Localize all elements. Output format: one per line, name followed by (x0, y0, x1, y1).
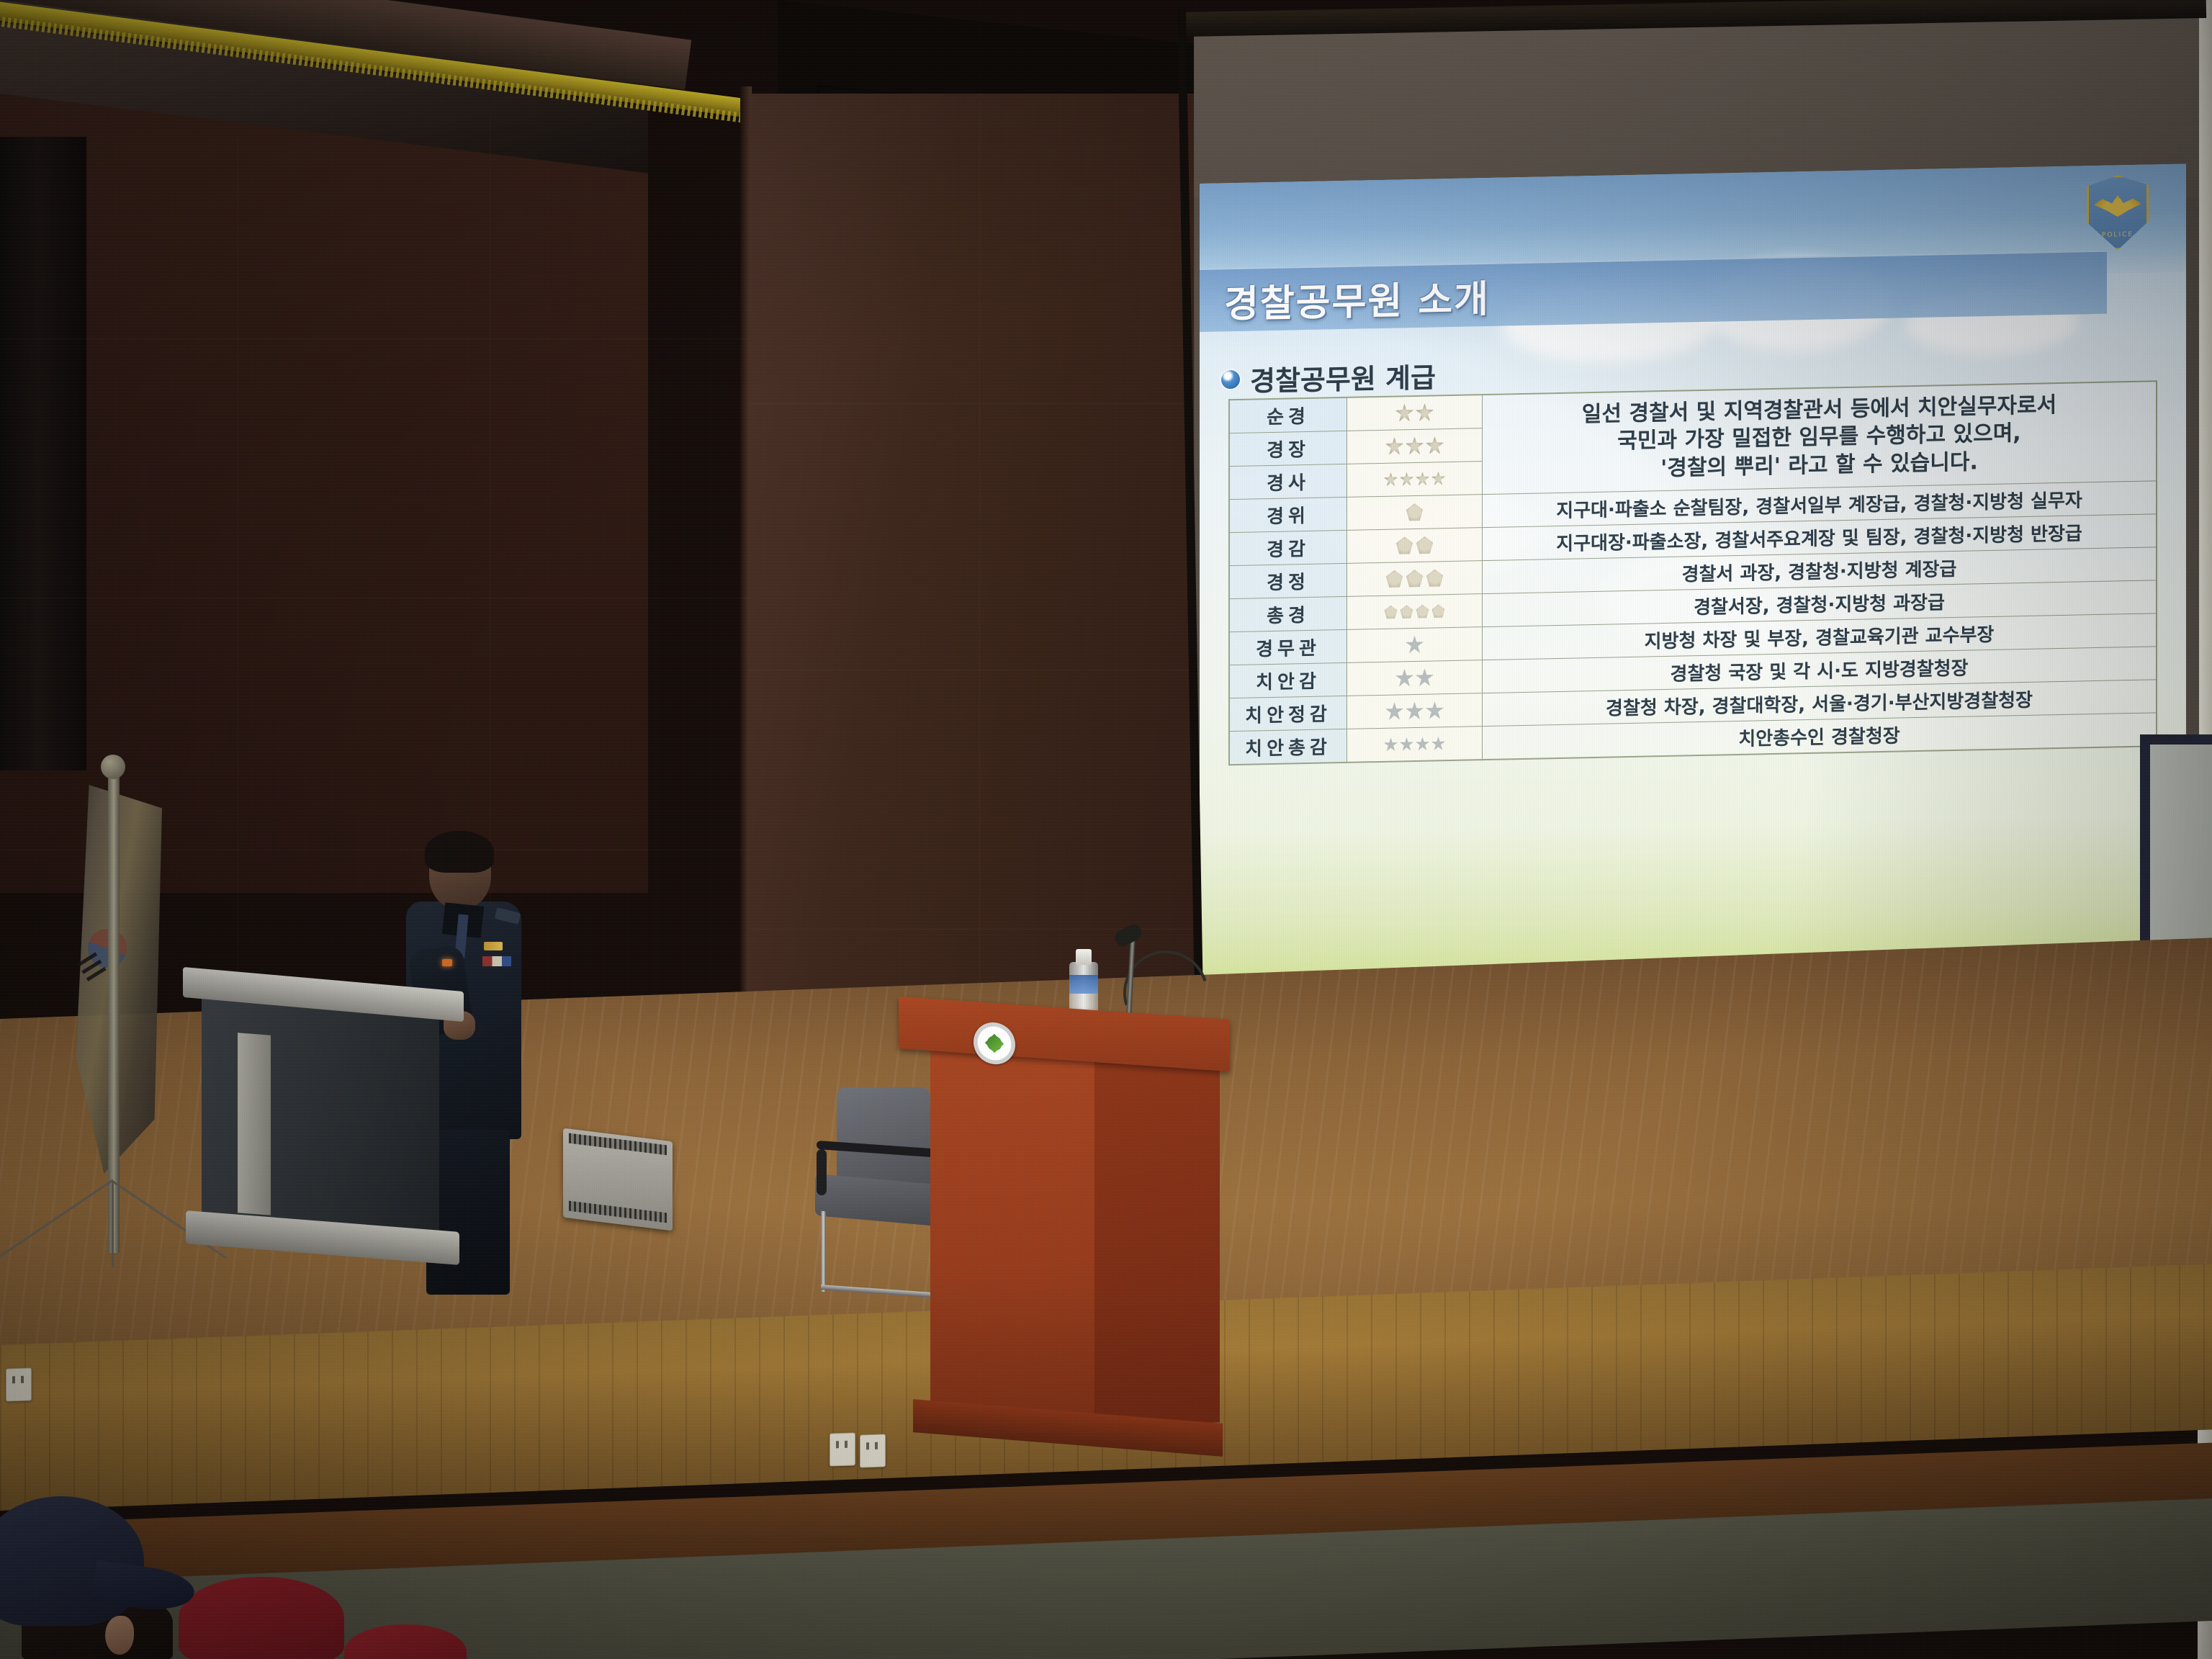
police-emblem-icon: POLICE (2087, 175, 2149, 251)
rank-insignia-icon (1431, 604, 1446, 619)
auditorium-photo: 경찰공무원 소개 POLICE 경찰공무원 계급 순경일선 경찰서 및 지역경찰… (0, 0, 2212, 1659)
audience-ear (105, 1616, 134, 1655)
rank-name-cell: 경무관 (1229, 629, 1347, 665)
rank-insignia-cell (1347, 495, 1483, 531)
rank-insignia-icon (1400, 472, 1414, 487)
rank-insignia-icon (1416, 536, 1434, 555)
presenter-hair (425, 831, 494, 873)
rank-insignia-cell (1347, 627, 1483, 663)
insignia-group (1352, 502, 1478, 523)
presenter-badge-icon (484, 942, 503, 950)
wooden-podium (906, 1008, 1223, 1498)
wall-seam (979, 101, 980, 1051)
flag-pole (108, 763, 120, 1253)
rank-name-cell: 치안감 (1229, 662, 1347, 698)
rank-insignia-icon (1406, 503, 1424, 522)
rank-name-cell: 치안정감 (1229, 696, 1347, 731)
presenter-ribbon-bar (482, 956, 511, 966)
rank-name-cell: 경장 (1229, 431, 1347, 466)
lectern-indicator-light (442, 959, 452, 966)
rank-insignia-icon (1395, 536, 1414, 556)
rank-insignia-icon (1416, 604, 1430, 619)
heater-vent (569, 1201, 667, 1223)
rank-insignia-cell (1347, 594, 1483, 630)
wall-outlet[interactable] (829, 1432, 855, 1466)
rank-insignia-cell (1347, 660, 1483, 696)
emblem-wordmark: POLICE (2087, 231, 2149, 240)
rank-insignia-icon (1384, 737, 1398, 752)
rank-insignia-icon (1385, 570, 1404, 589)
rank-insignia-cell (1347, 561, 1483, 597)
grey-lectern (196, 979, 448, 1282)
rank-insignia-icon (1416, 668, 1434, 688)
flag-finial (101, 755, 125, 779)
rank-insignia-icon (1385, 437, 1404, 457)
bottle-label (1069, 975, 1098, 994)
rank-description-cell: 일선 경찰서 및 지역경찰관서 등에서 치안실무자로서국민과 가장 밀접한 임무… (1483, 381, 2157, 494)
rank-insignia-icon (1385, 702, 1404, 721)
rank-insignia-cell (1347, 428, 1483, 464)
insignia-group (1352, 403, 1478, 424)
rank-insignia-cell (1347, 727, 1483, 763)
rank-insignia-cell (1347, 693, 1483, 729)
insignia-group (1352, 471, 1478, 488)
rank-name-cell: 총경 (1229, 596, 1347, 631)
taeguk-symbol-icon (88, 929, 127, 968)
wall-seam (238, 137, 238, 1030)
insignia-group (1352, 436, 1478, 457)
rank-insignia-icon (1426, 436, 1444, 456)
rank-insignia-cell (1347, 528, 1483, 564)
chair-leg (821, 1211, 826, 1292)
rank-insignia-cell (1347, 462, 1483, 498)
audience-red-cap (179, 1577, 344, 1659)
bullet-dot-icon (1221, 369, 1240, 389)
slide-title: 경찰공무원 소개 (1224, 269, 1490, 328)
rank-insignia-icon (1416, 737, 1430, 751)
rank-name-cell: 경사 (1229, 464, 1347, 499)
rank-insignia-icon (1406, 701, 1424, 721)
podium-emblem-inner (984, 1032, 1005, 1055)
rank-insignia-icon (1406, 569, 1424, 588)
water-bottle[interactable] (1069, 949, 1098, 1015)
rank-name-cell: 순경 (1229, 397, 1347, 433)
rank-insignia-icon (1406, 436, 1424, 456)
stage-curtain (0, 137, 86, 770)
insignia-group (1352, 535, 1478, 557)
audience-navy-cap (0, 1496, 144, 1626)
slide-section-heading: 경찰공무원 계급 (1221, 355, 1436, 399)
insignia-group (1352, 736, 1478, 753)
rank-insignia-icon (1426, 569, 1444, 588)
wall-outlet[interactable] (860, 1434, 886, 1467)
rank-name-cell: 경정 (1229, 563, 1347, 598)
rank-insignia-icon (1395, 669, 1414, 688)
tripod-leg (112, 1181, 114, 1267)
insignia-group (1352, 701, 1478, 722)
rank-name-cell: 치안총감 (1229, 729, 1347, 765)
rank-insignia-icon (1426, 701, 1444, 721)
slide-section-label: 경찰공무원 계급 (1250, 355, 1436, 398)
rank-insignia-icon (1406, 635, 1424, 655)
bottle-cap (1076, 949, 1092, 965)
chair-arm-left (817, 1149, 827, 1195)
rank-insignia-icon (1431, 472, 1446, 486)
rank-insignia-icon (1384, 605, 1398, 619)
rank-insignia-icon (1416, 403, 1434, 423)
rank-insignia-icon (1416, 472, 1430, 486)
wall-outlet[interactable] (6, 1367, 32, 1401)
lectern-accent-stripe (238, 1033, 271, 1215)
rank-insignia-icon (1431, 737, 1446, 751)
insignia-group (1352, 603, 1478, 621)
insignia-group (1352, 634, 1478, 656)
rank-insignia-icon (1384, 472, 1398, 487)
rank-name-cell: 경위 (1229, 497, 1347, 532)
insignia-group (1352, 667, 1478, 689)
rank-insignia-cell (1347, 395, 1483, 431)
portable-heater[interactable] (563, 1128, 673, 1231)
podium-side-panel (1090, 1019, 1220, 1429)
rank-insignia-icon (1400, 737, 1414, 752)
rank-name-cell: 경감 (1229, 530, 1347, 565)
wall-seam (0, 338, 749, 339)
rank-insignia-icon (1400, 605, 1414, 619)
rank-insignia-icon (1395, 404, 1414, 423)
podium-front-panel (930, 1045, 1094, 1435)
police-rank-table: 순경일선 경찰서 및 지역경찰관서 등에서 치안실무자로서국민과 가장 밀접한 … (1228, 380, 2157, 765)
insignia-group (1352, 568, 1478, 590)
back-wall (0, 43, 648, 893)
wall-seam (0, 598, 749, 598)
